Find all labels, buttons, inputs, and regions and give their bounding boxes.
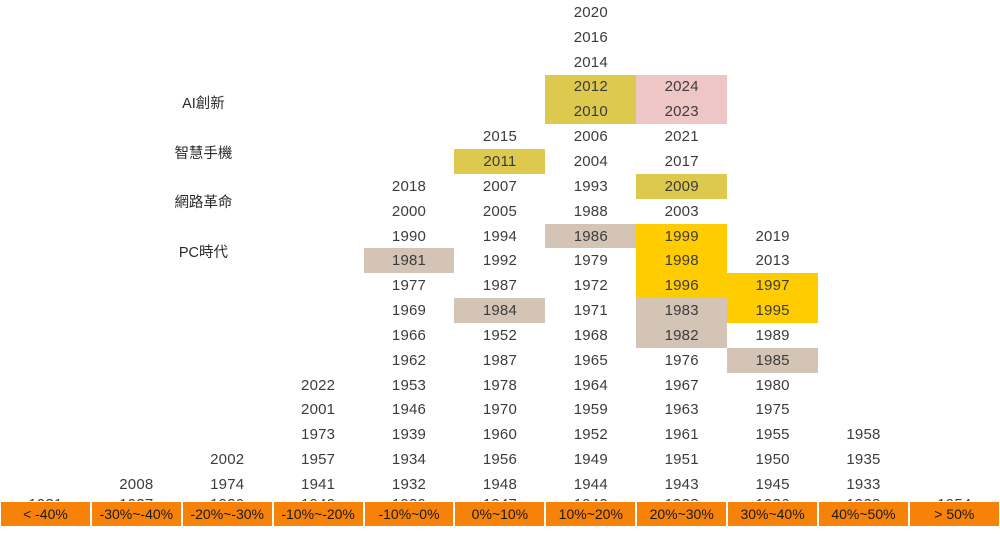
year-cell[interactable]: 1993: [545, 174, 636, 199]
year-cell[interactable]: 2001: [273, 398, 364, 423]
year-cell[interactable]: 1972: [545, 273, 636, 298]
legend: AI創新智慧手機網路革命PC時代: [158, 90, 249, 289]
year-cell[interactable]: 1968: [545, 323, 636, 348]
year-cell[interactable]: 1944: [545, 472, 636, 497]
year-cell[interactable]: 1958: [818, 422, 909, 447]
axis-bucket-label[interactable]: 40%~50%: [818, 501, 909, 527]
year-cell[interactable]: 1975: [727, 398, 818, 423]
year-cell[interactable]: 1955: [727, 422, 818, 447]
year-cell[interactable]: 2006: [545, 124, 636, 149]
year-cell[interactable]: 1974: [182, 472, 273, 497]
legend-item-smartphone[interactable]: 智慧手機: [158, 140, 249, 165]
axis-bucket-label[interactable]: -20%~-30%: [182, 501, 273, 527]
year-cell[interactable]: 2000: [364, 199, 455, 224]
year-cell[interactable]: 1951: [636, 447, 727, 472]
year-cell[interactable]: 1989: [727, 323, 818, 348]
year-cell[interactable]: 2012: [545, 75, 636, 100]
year-cell[interactable]: 2024: [636, 75, 727, 100]
axis-bucket-label[interactable]: 10%~20%: [545, 501, 636, 527]
year-cell[interactable]: 1957: [273, 447, 364, 472]
year-cell[interactable]: 2022: [273, 373, 364, 398]
year-cell[interactable]: 2021: [636, 124, 727, 149]
year-cell[interactable]: 2003: [636, 199, 727, 224]
year-cell[interactable]: 1952: [545, 422, 636, 447]
axis-bucket-label[interactable]: 20%~30%: [636, 501, 727, 527]
year-cell[interactable]: 1966: [364, 323, 455, 348]
year-cell[interactable]: 1996: [636, 273, 727, 298]
year-cell[interactable]: 1984: [454, 298, 545, 323]
year-cell[interactable]: 1985: [727, 348, 818, 373]
year-cell[interactable]: 1971: [545, 298, 636, 323]
year-cell[interactable]: 1995: [727, 298, 818, 323]
year-cell[interactable]: 2020: [545, 0, 636, 25]
year-cell[interactable]: 1952: [454, 323, 545, 348]
year-cell[interactable]: 1973: [273, 422, 364, 447]
year-cell[interactable]: 1961: [636, 422, 727, 447]
year-cell[interactable]: 2011: [454, 149, 545, 174]
year-cell[interactable]: 2010: [545, 99, 636, 124]
year-cell[interactable]: 1946: [364, 398, 455, 423]
year-cell[interactable]: 2009: [636, 174, 727, 199]
year-cell[interactable]: 2013: [727, 248, 818, 273]
year-cell[interactable]: 1945: [727, 472, 818, 497]
year-cell[interactable]: 1978: [454, 373, 545, 398]
year-cell[interactable]: 1963: [636, 398, 727, 423]
year-cell[interactable]: 2002: [182, 447, 273, 472]
year-cell[interactable]: 2018: [364, 174, 455, 199]
year-cell[interactable]: 1960: [454, 422, 545, 447]
year-cell[interactable]: 2019: [727, 224, 818, 249]
year-cell[interactable]: 1969: [364, 298, 455, 323]
year-cell[interactable]: 1999: [636, 224, 727, 249]
year-cell[interactable]: 1981: [364, 248, 455, 273]
year-cell[interactable]: 1965: [545, 348, 636, 373]
year-cell[interactable]: 1964: [545, 373, 636, 398]
legend-item-internet[interactable]: 網路革命: [158, 189, 249, 214]
year-cell[interactable]: 2017: [636, 149, 727, 174]
year-cell[interactable]: 1935: [818, 447, 909, 472]
year-cell[interactable]: 1983: [636, 298, 727, 323]
year-cell[interactable]: 2014: [545, 50, 636, 75]
year-cell[interactable]: 1980: [727, 373, 818, 398]
year-cell[interactable]: 1988: [545, 199, 636, 224]
year-cell[interactable]: 1939: [364, 422, 455, 447]
year-cell[interactable]: 2007: [454, 174, 545, 199]
year-cell[interactable]: 1987: [454, 273, 545, 298]
axis-bucket-label[interactable]: -30%~-40%: [91, 501, 182, 527]
year-cell[interactable]: 2004: [545, 149, 636, 174]
year-cell[interactable]: 2016: [545, 25, 636, 50]
year-cell[interactable]: 1998: [636, 248, 727, 273]
axis-bucket-label[interactable]: 0%~10%: [454, 501, 545, 527]
year-cell[interactable]: 1943: [636, 472, 727, 497]
year-cell[interactable]: 1987: [454, 348, 545, 373]
year-cell[interactable]: 1967: [636, 373, 727, 398]
year-cell[interactable]: 2015: [454, 124, 545, 149]
year-cell[interactable]: 1932: [364, 472, 455, 497]
year-cell-grid: 2020201620142012202420102023201520062021…: [0, 0, 1000, 497]
year-cell[interactable]: 1977: [364, 273, 455, 298]
year-cell[interactable]: 1949: [545, 447, 636, 472]
year-cell[interactable]: 1962: [364, 348, 455, 373]
year-cell[interactable]: 1970: [454, 398, 545, 423]
year-cell[interactable]: 1959: [545, 398, 636, 423]
year-cell[interactable]: 1992: [454, 248, 545, 273]
legend-item-pc[interactable]: PC時代: [158, 239, 249, 264]
year-cell[interactable]: 1941: [273, 472, 364, 497]
axis-bucket-label[interactable]: -10%~-20%: [273, 501, 364, 527]
year-cell[interactable]: 2023: [636, 99, 727, 124]
year-cell[interactable]: 1979: [545, 248, 636, 273]
year-distribution-chart: 2020201620142012202420102023201520062021…: [0, 0, 1000, 541]
year-cell[interactable]: 1997: [727, 273, 818, 298]
axis-bucket-label[interactable]: 30%~40%: [727, 501, 818, 527]
axis-bucket-label[interactable]: > 50%: [909, 501, 1000, 527]
year-cell[interactable]: 2008: [91, 472, 182, 497]
year-cell[interactable]: 1934: [364, 447, 455, 472]
year-cell[interactable]: 1976: [636, 348, 727, 373]
year-cell[interactable]: 1990: [364, 224, 455, 249]
year-cell[interactable]: 1950: [727, 447, 818, 472]
year-cell[interactable]: 1953: [364, 373, 455, 398]
axis-bucket-label[interactable]: < -40%: [0, 501, 91, 527]
year-cell[interactable]: 1933: [818, 472, 909, 497]
year-cell[interactable]: 1948: [454, 472, 545, 497]
year-cell[interactable]: 1956: [454, 447, 545, 472]
year-cell[interactable]: 1986: [545, 224, 636, 249]
legend-item-ai[interactable]: AI創新: [158, 90, 249, 115]
x-axis-bucket-labels: < -40%-30%~-40%-20%~-30%-10%~-20%-10%~0%…: [0, 501, 1000, 527]
axis-bucket-label[interactable]: -10%~0%: [364, 501, 455, 527]
year-cell[interactable]: 2005: [454, 199, 545, 224]
year-cell[interactable]: 1994: [454, 224, 545, 249]
year-cell[interactable]: 1982: [636, 323, 727, 348]
